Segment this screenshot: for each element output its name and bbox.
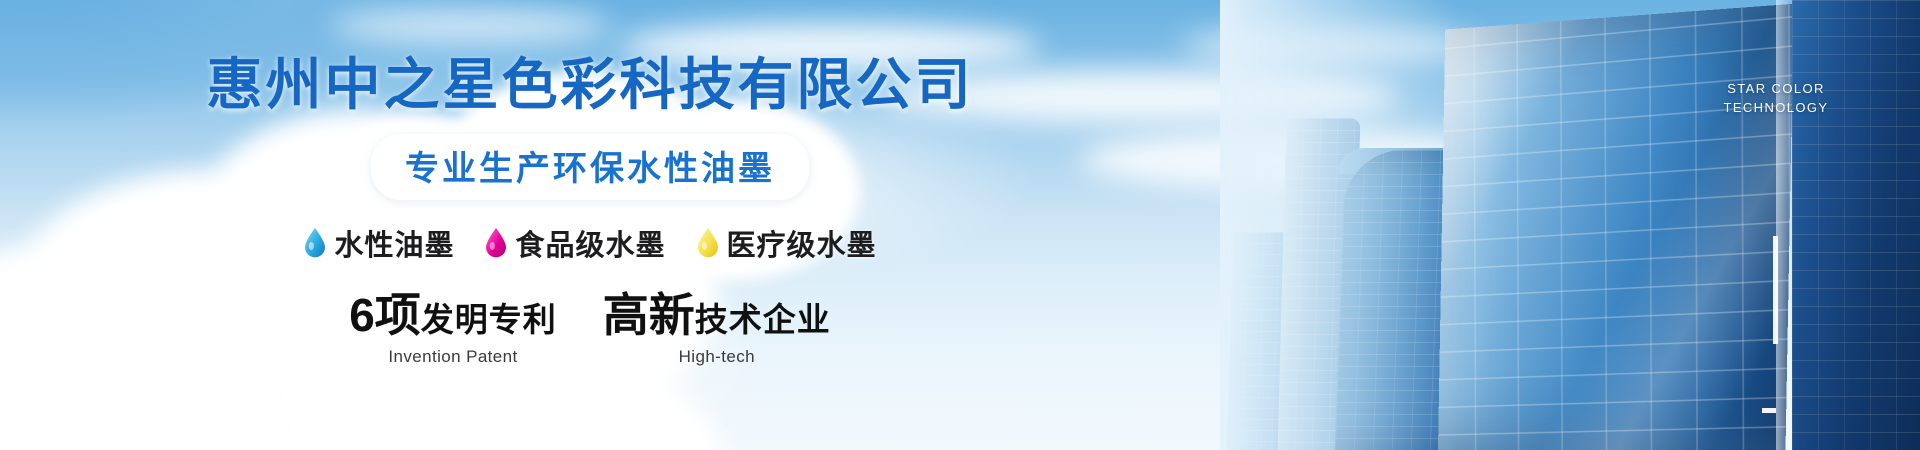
badge-high-tech: 高新技术企业 High-tech bbox=[603, 292, 831, 367]
badge-invention-patent: 6项发明专利 Invention Patent bbox=[349, 292, 557, 367]
banner-content: 惠州中之星色彩科技有限公司 专业生产环保水性油墨 水性油墨 bbox=[0, 0, 1180, 450]
feature-item: 医疗级水墨 bbox=[696, 222, 877, 264]
badge-english-text: High-tech bbox=[603, 347, 831, 367]
badge-strong-text: 6项 bbox=[349, 289, 421, 341]
skyscrapers-illustration: STAR COLOR TECHNOLOGY bbox=[1220, 0, 1920, 450]
feature-label: 医疗级水墨 bbox=[727, 222, 877, 264]
feature-label: 食品级水墨 bbox=[515, 222, 665, 264]
badge-rest-text: 技术企业 bbox=[695, 301, 831, 338]
tagline-pill: 专业生产环保水性油墨 bbox=[371, 134, 809, 200]
building-main-glass-tower bbox=[1438, 4, 1794, 450]
water-drop-icon bbox=[696, 227, 720, 258]
water-drop-icon bbox=[303, 227, 327, 258]
feature-label: 水性油墨 bbox=[334, 222, 454, 264]
credential-badges: 6项发明专利 Invention Patent 高新技术企业 High-tech bbox=[349, 292, 831, 367]
building-brand-line2: TECHNOLOGY bbox=[1696, 99, 1856, 118]
feature-item: 食品级水墨 bbox=[484, 222, 665, 264]
feature-item: 水性油墨 bbox=[303, 222, 454, 264]
water-drop-icon bbox=[484, 227, 508, 258]
building-brand-label: STAR COLOR TECHNOLOGY bbox=[1696, 80, 1856, 118]
building-right-slab bbox=[1792, 0, 1920, 450]
building-brand-line1: STAR COLOR bbox=[1696, 80, 1856, 99]
company-hero-banner: Star Color STAR COLOR TECHNOLOGY 惠州中之星色彩… bbox=[0, 0, 1920, 450]
product-feature-list: 水性油墨 食品级水墨 bbox=[303, 222, 876, 264]
badge-rest-text: 发明专利 bbox=[421, 301, 557, 338]
badge-english-text: Invention Patent bbox=[349, 347, 557, 367]
facade-accent-dash bbox=[1762, 408, 1776, 413]
facade-accent-strip bbox=[1773, 236, 1778, 344]
company-name-heading: 惠州中之星色彩科技有限公司 bbox=[207, 54, 974, 116]
badge-strong-text: 高新 bbox=[603, 289, 695, 341]
building-edge-highlight bbox=[1776, 0, 1792, 450]
